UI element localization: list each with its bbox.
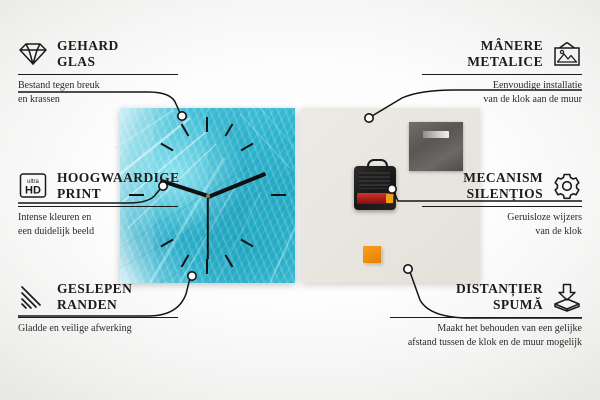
feature-subtitle: Eenvoudige installatie van de klok aan d… xyxy=(422,79,582,106)
feature-divider xyxy=(18,206,178,208)
feature-metal-handles: MÂNERE METALICE Eenvoudige installatie v… xyxy=(422,38,582,106)
feature-title-line2: PRINT xyxy=(57,186,180,202)
feature-subtitle-line1: Geruisloze wijzers xyxy=(422,211,582,224)
picture-hanger-icon xyxy=(552,41,582,67)
feature-divider xyxy=(18,74,178,76)
battery-plus-terminal xyxy=(386,194,393,203)
feature-heading: MECANISM SILENȚIOS xyxy=(422,170,582,202)
feature-heading: MÂNERE METALICE xyxy=(422,38,582,70)
feature-title: GEHARD GLAS xyxy=(57,38,119,70)
clock-tick xyxy=(206,259,208,274)
feature-subtitle: Gladde en veilige afwerking xyxy=(18,322,178,335)
feature-subtitle-line2: een duidelijk beeld xyxy=(18,225,178,238)
feature-title-line2: SILENȚIOS xyxy=(463,186,543,202)
feature-divider xyxy=(422,206,582,208)
feature-subtitle-line1: Maakt het behouden van een gelijke xyxy=(390,322,582,335)
feature-heading: DISTANȚIER SPUMĂ xyxy=(390,281,582,313)
feature-subtitle-line2: afstand tussen de klok en de muur mogeli… xyxy=(390,336,582,349)
feature-subtitle-line1: Gladde en veilige afwerking xyxy=(18,322,178,335)
feature-subtitle-line2: van de klok xyxy=(422,225,582,238)
feature-title-line2: METALICE xyxy=(467,54,543,70)
infographic-canvas: GEHARD GLAS Bestand tegen breuk en krass… xyxy=(0,0,600,400)
clock-mechanism xyxy=(354,166,396,210)
feature-ground-edges: GESLEPEN RANDEN Gladde en veilige afwerk… xyxy=(18,281,178,336)
feature-heading: GESLEPEN RANDEN xyxy=(18,281,178,313)
feature-heading: GEHARD GLAS xyxy=(18,38,178,70)
feature-title-line1: GEHARD xyxy=(57,38,119,54)
feature-title-line1: DISTANȚIER xyxy=(456,281,543,297)
feature-subtitle: Geruisloze wijzers van de klok xyxy=(422,211,582,238)
spacer-arrow-icon xyxy=(552,283,582,311)
feature-subtitle-line2: van de klok aan de muur xyxy=(422,93,582,106)
feature-title: MECANISM SILENȚIOS xyxy=(463,170,543,202)
feature-title: HOOGWAARDIGE PRINT xyxy=(57,170,180,202)
feature-foam-spacer: DISTANȚIER SPUMĂ Maakt het behouden van … xyxy=(390,281,582,349)
ultra-hd-icon-large-text: HD xyxy=(25,185,41,197)
feature-subtitle: Intense kleuren en een duidelijk beeld xyxy=(18,211,178,238)
ultra-hd-icon: ultra HD xyxy=(18,172,48,199)
foam-spacer xyxy=(363,246,381,263)
feature-title: GESLEPEN RANDEN xyxy=(57,281,132,313)
metal-hanger-plate xyxy=(409,122,463,171)
feature-title-line2: RANDEN xyxy=(57,297,132,313)
clock-tick xyxy=(271,194,286,196)
feature-divider xyxy=(390,317,582,319)
feature-subtitle-line1: Eenvoudige installatie xyxy=(422,79,582,92)
polished-edges-icon xyxy=(18,284,48,310)
feature-title-line2: SPUMĂ xyxy=(456,297,543,313)
feature-divider xyxy=(18,317,178,319)
feature-title-line1: MECANISM xyxy=(463,170,543,186)
feature-subtitle-line1: Intense kleuren en xyxy=(18,211,178,224)
feature-subtitle-line1: Bestand tegen breuk xyxy=(18,79,178,92)
feature-title: DISTANȚIER SPUMĂ xyxy=(456,281,543,313)
feature-heading: ultra HD HOOGWAARDIGE PRINT xyxy=(18,170,178,202)
feature-title: MÂNERE METALICE xyxy=(467,38,543,70)
feature-subtitle: Maakt het behouden van een gelijke afsta… xyxy=(390,322,582,349)
second-hand xyxy=(207,196,209,260)
diamond-icon xyxy=(18,41,48,67)
gear-icon xyxy=(552,172,582,200)
feature-divider xyxy=(422,74,582,76)
feature-title-line2: GLAS xyxy=(57,54,119,70)
feature-title-line1: HOOGWAARDIGE xyxy=(57,170,180,186)
feature-title-line1: MÂNERE xyxy=(467,38,543,54)
clock-hub xyxy=(206,194,210,198)
feature-hd-print: ultra HD HOOGWAARDIGE PRINT Intense kleu… xyxy=(18,170,178,238)
battery xyxy=(357,193,394,204)
feature-subtitle: Bestand tegen breuk en krassen xyxy=(18,79,178,106)
hanger-loop xyxy=(367,159,388,170)
feature-silent-mechanism: MECANISM SILENȚIOS Geruisloze wijzers va… xyxy=(422,170,582,238)
feature-tempered-glass: GEHARD GLAS Bestand tegen breuk en krass… xyxy=(18,38,178,106)
feature-subtitle-line2: en krassen xyxy=(18,93,178,106)
hanger-slot xyxy=(423,131,449,138)
mechanism-panel xyxy=(359,172,390,189)
feature-title-line1: GESLEPEN xyxy=(57,281,132,297)
clock-tick xyxy=(206,117,208,132)
